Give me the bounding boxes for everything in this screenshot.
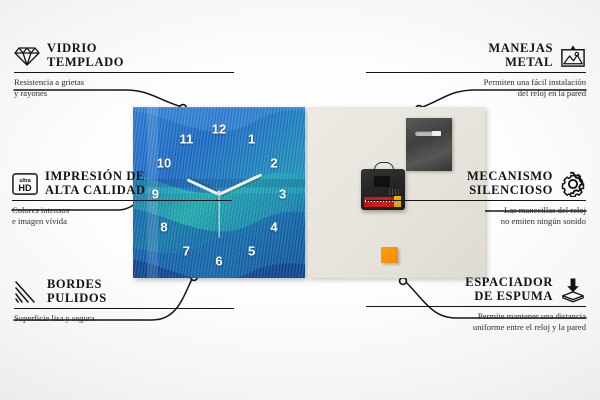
clock-numeral-5: 5: [248, 244, 255, 257]
clock-numeral-1: 1: [248, 133, 255, 146]
feature-title: MECANISMO SILENCIOSO: [467, 170, 553, 197]
clock-numeral-11: 11: [179, 133, 193, 146]
clock-numeral-6: 6: [215, 254, 222, 267]
clock-numeral-7: 7: [183, 244, 190, 257]
feature-description: Colores intensos e imagen vívida: [12, 205, 232, 226]
clock-numeral-12: 12: [212, 123, 226, 136]
feature-divider: [366, 72, 586, 73]
hanger-keyhole-slot: [415, 131, 441, 136]
metal-hanger-plate: [406, 118, 452, 171]
clock-numeral-3: 3: [279, 188, 286, 201]
feature-divider: [14, 308, 234, 309]
feature-title: ESPACIADOR DE ESPUMA: [465, 276, 553, 303]
feature-description: Permiten una fácil instalación del reloj…: [366, 77, 586, 98]
foam-spacer-icon: [560, 277, 586, 303]
polished-edges-icon: [14, 279, 40, 305]
feature-impresion-alta-calidad: ultra HD IMPRESIÓN DE ALTA CALIDAD Color…: [12, 170, 232, 226]
picture-frame-icon: [560, 43, 586, 69]
feature-description: Las manecillas del reloj no emiten ningú…: [366, 205, 586, 226]
feature-vidrio-templado: VIDRIO TEMPLADO Resistencia a grietas y …: [14, 42, 234, 98]
diamond-icon: [14, 43, 40, 69]
feature-divider: [12, 200, 232, 201]
infographic-root: 12 1 2 3 4 5 6 7 8 9 10 11: [0, 0, 600, 400]
foam-spacer-square: [381, 247, 398, 263]
feature-espaciador-espuma: ESPACIADOR DE ESPUMA Permite mantener un…: [366, 276, 586, 332]
feature-divider: [366, 200, 586, 201]
feature-mecanismo-silencioso: MECANISMO SILENCIOSO Las manecillas del …: [366, 170, 586, 226]
feature-manejas-metal: MANEJAS METAL Permiten una fácil instala…: [366, 42, 586, 98]
svg-text:HD: HD: [18, 183, 32, 193]
clock-center-hub: [217, 190, 222, 195]
feature-title: BORDES PULIDOS: [47, 278, 107, 305]
feature-description: Permite mantener una distancia uniforme …: [366, 311, 586, 332]
clock-numeral-10: 10: [157, 157, 171, 170]
gear-icon: [560, 171, 586, 197]
feature-title: MANEJAS METAL: [488, 42, 553, 69]
feature-bordes-pulidos: BORDES PULIDOS Superficie lisa y segura: [14, 278, 234, 324]
feature-divider: [366, 306, 586, 307]
clock-numeral-4: 4: [270, 220, 277, 233]
feature-divider: [14, 72, 234, 73]
feature-title: IMPRESIÓN DE ALTA CALIDAD: [45, 170, 146, 197]
feature-description: Superficie lisa y segura: [14, 313, 234, 324]
feature-title: VIDRIO TEMPLADO: [47, 42, 124, 69]
clock-numeral-2: 2: [270, 157, 277, 170]
ultra-hd-icon: ultra HD: [12, 171, 38, 197]
feature-description: Resistencia a grietas y rayones: [14, 77, 234, 98]
